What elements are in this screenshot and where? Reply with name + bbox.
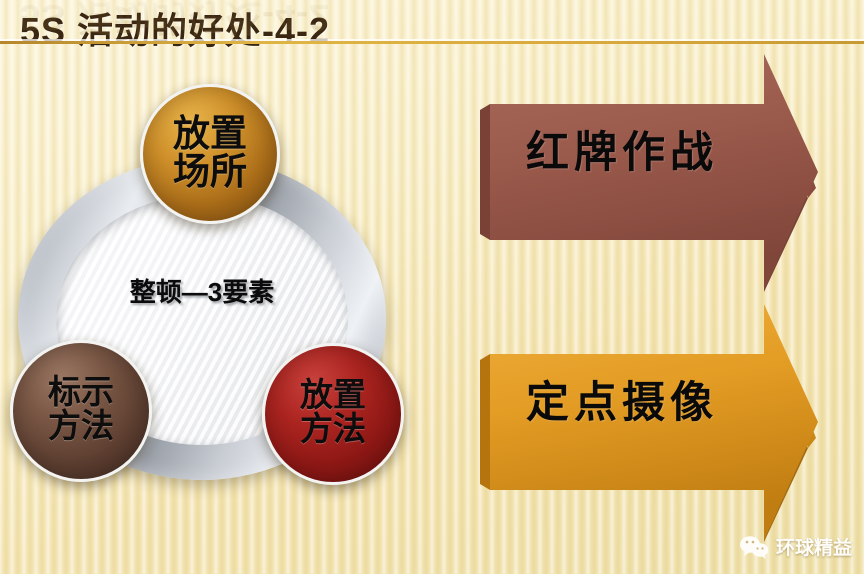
diagram-center-caption: 整顿—3要素: [56, 272, 348, 309]
arrow-label-fixed-point-photography: 定点摄像: [526, 368, 718, 430]
diagram-node-placement-location[interactable]: 放置 场所: [140, 84, 280, 224]
arrow-label-red-tag-campaign: 红牌作战: [526, 118, 718, 180]
node-line-1: 放置: [173, 116, 247, 154]
arrow-fixed-point-photography[interactable]: 定点摄像: [478, 298, 828, 548]
node-line-2: 方法: [300, 414, 366, 448]
watermark: 环球精益: [739, 533, 852, 560]
node-line-1: 标示: [48, 377, 114, 411]
diagram-node-labeling-method[interactable]: 标示 方法: [10, 340, 152, 482]
watermark-label: 环球精益: [776, 533, 852, 560]
node-line-2: 场所: [173, 154, 247, 192]
arrow-red-tag-campaign[interactable]: 红牌作战: [478, 48, 828, 298]
slide-canvas: 5S 活动的好处-4-2 5S 活动的好处-4-2 整顿—3要素 放置 场所 标…: [0, 0, 864, 574]
node-line-1: 放置: [300, 380, 366, 414]
diagram-node-placement-method[interactable]: 放置 方法: [262, 343, 404, 485]
node-line-2: 方法: [48, 411, 114, 445]
wechat-icon: [739, 535, 769, 559]
page-title-reflection: 5S 活动的好处-4-2: [20, 0, 330, 46]
